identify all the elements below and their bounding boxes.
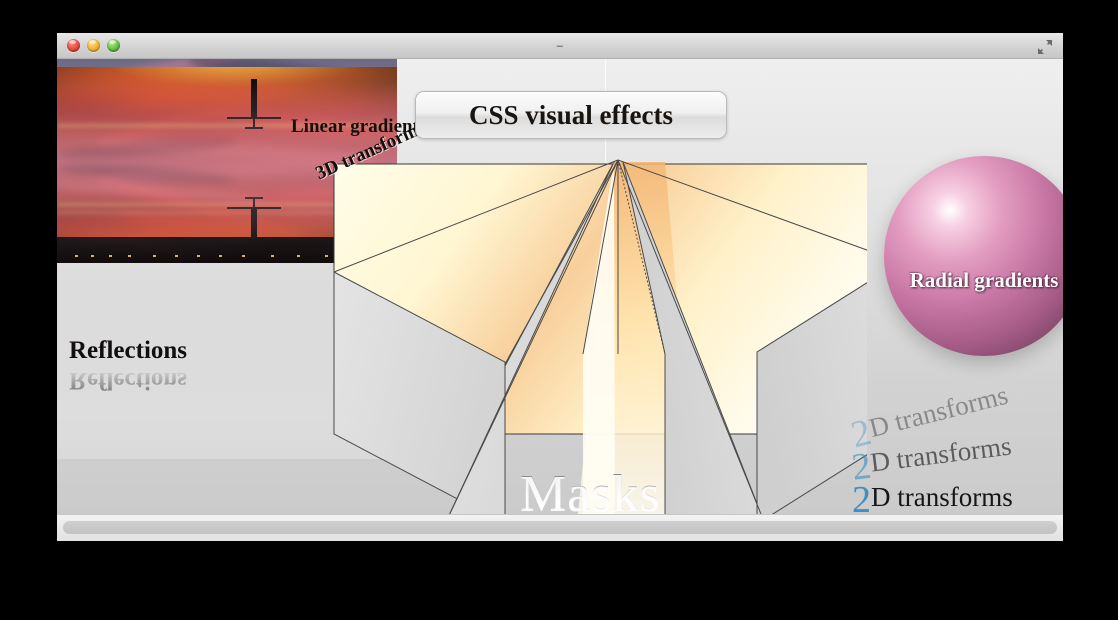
fullscreen-arrows-icon[interactable] (1036, 38, 1054, 56)
radial-gradient-sphere: Radial gradients (884, 156, 1063, 356)
radial-gradients-label: Radial gradients (884, 156, 1063, 356)
gradient-fan-card: Linear gradients 3D transforms Masks (277, 104, 867, 515)
masks-label: Masks (520, 464, 661, 515)
reflections-label-group: Reflections Reflections (69, 337, 299, 394)
slide-stage: Reflections Reflections (57, 59, 1063, 515)
two-d-transforms-stack: 2D transforms 2D transforms 2D transform… (852, 417, 1063, 515)
reflections-label: Reflections (69, 337, 187, 364)
fan-vector (277, 104, 867, 515)
two-d-number: 2 (852, 479, 871, 515)
reflections-label-mirror: Reflections (69, 366, 299, 394)
application-window: – (57, 33, 1063, 541)
two-d-text: D transforms (871, 482, 1013, 512)
window-title: – (57, 33, 1063, 59)
horizontal-scrollbar-thumb[interactable] (63, 521, 1057, 534)
two-d-transform-item: 2D transforms (852, 481, 1013, 515)
desktop-background: – (0, 0, 1118, 620)
window-titlebar[interactable]: – (57, 33, 1063, 60)
slide-title-banner: CSS visual effects (415, 91, 727, 139)
horizontal-scrollbar-track[interactable] (57, 514, 1063, 541)
